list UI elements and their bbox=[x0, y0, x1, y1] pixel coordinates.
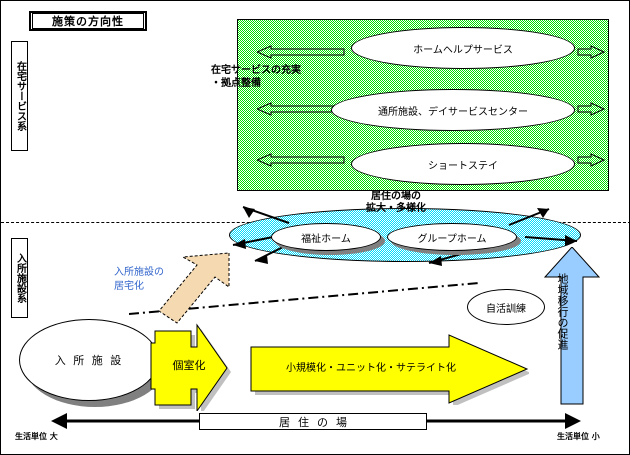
category-label-home-services-text: 在宅サービス系 bbox=[15, 61, 25, 131]
home-services-caption-line1: 在宅サービスの充実 bbox=[211, 64, 361, 77]
category-label-institutions-text: 入所施設系 bbox=[15, 253, 25, 303]
diagram-title-box: 施策の方向性 bbox=[29, 11, 147, 31]
category-label-home-services: 在宅サービス系 bbox=[11, 41, 28, 151]
service-ellipse-home-help: ホームヘルプサービス bbox=[351, 27, 575, 69]
housing-expansion-caption-line1: 居住の場の bbox=[331, 191, 461, 203]
downsizing-arrow-label: 小規模化・ユニット化・サテライト化 bbox=[265, 359, 477, 374]
private-room-arrow-label: 個室化 bbox=[161, 357, 217, 373]
regional-transition-arrow-label: 地域移行の促進 bbox=[557, 273, 573, 393]
residentialization-label: 入所施設の 居宅化 bbox=[114, 266, 204, 294]
service-ellipse-short-stay: ショートステイ bbox=[351, 143, 575, 185]
category-label-institutions: 入所施設系 bbox=[11, 238, 28, 318]
home-services-caption-line2: ・拠点整備 bbox=[211, 77, 361, 90]
diagram-canvas: 施策の方向性 在宅サービス系 入所施設系 在宅サービスの充実 ・拠点整備 ホーム… bbox=[0, 0, 630, 455]
housing-ellipse-group-home: グループホーム bbox=[387, 223, 517, 251]
outward-arrow-icon bbox=[577, 153, 605, 167]
diagram-title: 施策の方向性 bbox=[32, 13, 144, 29]
living-place-axis-label: 居住の場 bbox=[199, 413, 427, 430]
housing-expansion-caption: 居住の場の 拡大・多様化 bbox=[331, 191, 461, 215]
residentialization-label-line2: 居宅化 bbox=[114, 280, 204, 294]
regional-transition-label-text: 地域移行の促進 bbox=[557, 273, 568, 350]
self-training-ellipse: 自活訓練 bbox=[467, 289, 545, 325]
outward-arrow-icon bbox=[577, 45, 605, 59]
housing-expansion-caption-line2: 拡大・多様化 bbox=[331, 203, 461, 215]
outward-arrow-icon bbox=[577, 102, 605, 116]
service-ellipse-day-service: 通所施設、デイサービスセンター bbox=[331, 89, 575, 131]
institution-ellipse: 入 所 施 設 bbox=[19, 319, 159, 401]
housing-ellipse-welfare-home: 福祉ホーム bbox=[271, 223, 381, 251]
axis-label-large-unit: 生活単位 大 bbox=[15, 431, 58, 442]
home-services-caption: 在宅サービスの充実 ・拠点整備 bbox=[211, 64, 361, 90]
axis-label-small-unit: 生活単位 小 bbox=[557, 431, 600, 442]
inward-arrow-icon bbox=[257, 153, 345, 167]
inward-arrow-icon bbox=[257, 45, 345, 59]
residentialization-label-line1: 入所施設の bbox=[114, 266, 204, 280]
